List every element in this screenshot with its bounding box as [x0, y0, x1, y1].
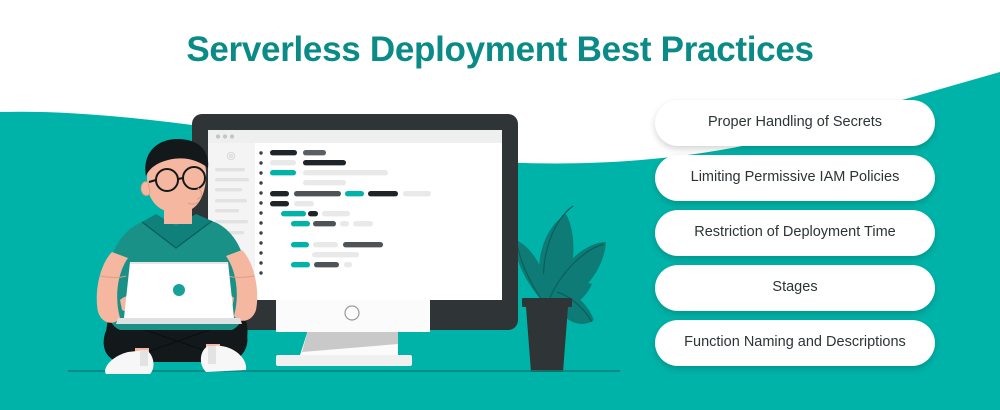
- code-token: [368, 191, 398, 196]
- laptop-base: [116, 318, 242, 324]
- code-token: [294, 191, 341, 196]
- practice-item-1[interactable]: Proper Handling of Secrets: [655, 100, 935, 146]
- practice-item-5[interactable]: Function Naming and Descriptions: [655, 320, 935, 366]
- sidebar-bar[interactable]: [215, 178, 249, 181]
- code-token: [345, 191, 364, 196]
- shoe-lace-left: [140, 350, 148, 366]
- sidebar-bar[interactable]: [215, 220, 248, 223]
- code-token: [270, 170, 296, 175]
- code-token: [281, 211, 306, 216]
- code-token: [303, 160, 346, 165]
- window-dot[interactable]: [216, 134, 220, 138]
- window-titlebar: [208, 130, 502, 143]
- code-token: [270, 191, 289, 196]
- practice-item-2[interactable]: Limiting Permissive IAM Policies: [655, 155, 935, 201]
- practice-label: Stages: [772, 280, 817, 296]
- code-token: [312, 252, 359, 257]
- window-dot[interactable]: [223, 134, 227, 138]
- potted-plant: [515, 206, 606, 372]
- code-token: [291, 221, 310, 226]
- sidebar-bar[interactable]: [215, 188, 242, 191]
- best-practices-list: Proper Handling of Secrets Limiting Perm…: [655, 100, 935, 366]
- code-token: [303, 180, 346, 185]
- code-token: [314, 262, 339, 267]
- page-title: Serverless Deployment Best Practices: [0, 30, 1000, 70]
- ear: [141, 182, 150, 196]
- code-token: [313, 242, 338, 247]
- code-token: [403, 191, 431, 196]
- practice-item-3[interactable]: Restriction of Deployment Time: [655, 210, 935, 256]
- shoe-lace-right: [208, 346, 216, 364]
- window-dot[interactable]: [230, 134, 234, 138]
- practice-label: Function Naming and Descriptions: [684, 335, 906, 351]
- code-token: [291, 242, 309, 247]
- laptop-logo-circle: [173, 284, 185, 296]
- practice-item-4[interactable]: Stages: [655, 265, 935, 311]
- code-token: [270, 201, 289, 206]
- code-token: [344, 262, 352, 267]
- pot-body: [526, 307, 568, 372]
- code-token: [322, 211, 350, 216]
- code-token: [270, 150, 297, 155]
- sidebar-bar[interactable]: [215, 209, 239, 212]
- code-token: [303, 170, 388, 175]
- code-token: [340, 221, 349, 226]
- code-token: [270, 160, 296, 165]
- code-token: [343, 242, 383, 247]
- code-token: [294, 201, 314, 206]
- practice-label: Limiting Permissive IAM Policies: [691, 170, 900, 186]
- practice-label: Proper Handling of Secrets: [708, 115, 882, 131]
- code-token: [308, 211, 318, 216]
- laptop: [116, 262, 242, 324]
- code-token: [291, 262, 310, 267]
- pot-rim: [522, 298, 572, 307]
- laptop-top-edge: [130, 262, 228, 264]
- sidebar-bar[interactable]: [215, 168, 245, 171]
- code-token: [353, 221, 373, 226]
- infographic-banner: Serverless Deployment Best Practices Pro…: [0, 0, 1000, 410]
- practice-label: Restriction of Deployment Time: [694, 225, 895, 241]
- sidebar-bar[interactable]: [215, 199, 247, 202]
- monitor-chin: [276, 300, 430, 332]
- code-token: [313, 221, 336, 226]
- monitor-base: [276, 355, 412, 366]
- code-token: [303, 150, 326, 155]
